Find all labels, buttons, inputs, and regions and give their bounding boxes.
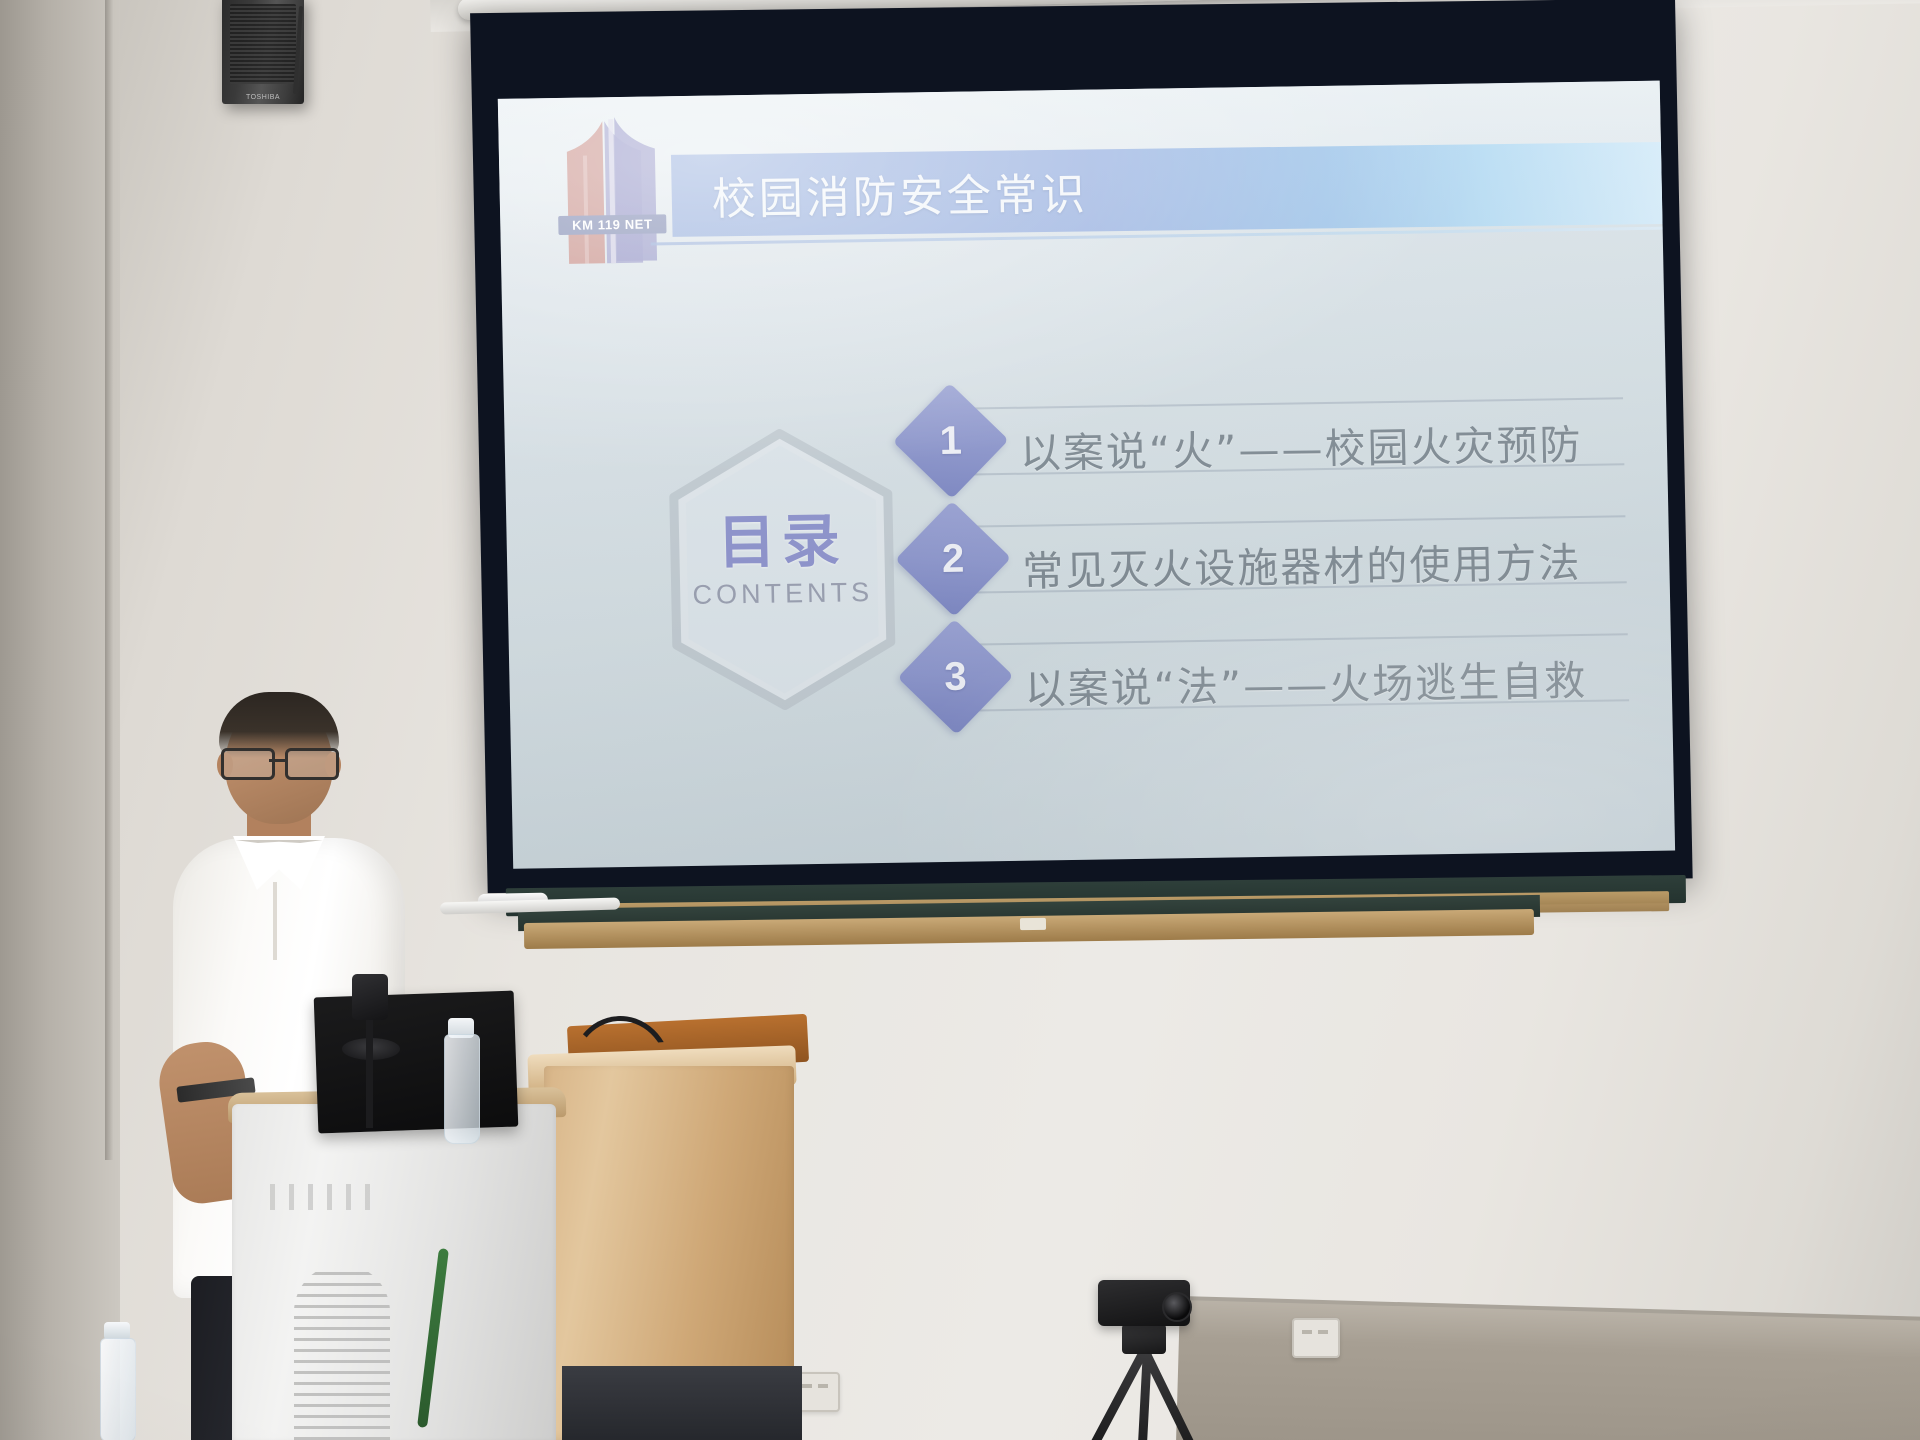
podium-front-slots — [256, 1184, 376, 1210]
projection-screen-icon: KM 119 NET 校园消防安全常识 目录 CONTENTS — [470, 0, 1738, 930]
presenter-shirt-placket — [273, 882, 277, 960]
chalk-tray-item — [1020, 918, 1046, 930]
toc-item: 2 常见灭火设施器材的使用方法 — [911, 499, 1633, 628]
tripod-camera-icon — [1062, 1280, 1252, 1440]
km119-shield-icon: KM 119 NET — [558, 114, 665, 268]
toc-label: 以案说“法”——火场逃生自救 — [1024, 647, 1588, 716]
power-socket-icon — [1292, 1318, 1340, 1358]
toc-rule-top — [968, 633, 1628, 645]
camera-lens-icon — [1162, 1292, 1192, 1322]
contents-cn-label: 目录 — [656, 510, 907, 575]
toc-item: 3 以案说“法”——火场逃生自救 — [914, 617, 1636, 746]
podium-base — [562, 1366, 802, 1440]
monitor-icon — [314, 991, 519, 1134]
screenshot-scene: TOSHIBA KM 119 NET — [0, 0, 1920, 1440]
slide-title: 校园消防安全常识 — [711, 158, 1088, 227]
wall-left-shadow — [0, 0, 120, 1440]
contents-badge-text: 目录 CONTENTS — [656, 510, 908, 612]
contents-en-label: CONTENTS — [657, 576, 908, 611]
presentation-slide: KM 119 NET 校园消防安全常识 目录 CONTENTS — [498, 81, 1675, 869]
tripod-head — [1122, 1324, 1166, 1354]
wall-skirting — [1176, 1300, 1920, 1440]
toc-item: 1 以案说“火”——校园火灾预防 — [909, 381, 1631, 510]
slide-surface: KM 119 NET 校园消防安全常识 目录 CONTENTS — [498, 81, 1675, 869]
toc-number-badge: 3 — [898, 619, 1014, 735]
podium-cabinet — [232, 1104, 556, 1440]
speaker-grille — [230, 4, 296, 84]
toc-label: 以案说“火”——校园火灾预防 — [1019, 411, 1583, 480]
toc-label: 常见灭火设施器材的使用方法 — [1022, 529, 1582, 598]
podium-vent-grille — [294, 1264, 390, 1440]
toc-rule-top — [965, 515, 1625, 527]
toc-number: 2 — [911, 517, 995, 600]
camera-body — [1098, 1280, 1190, 1326]
km119-logo-label: KM 119 NET — [558, 214, 666, 235]
toc-number: 3 — [914, 635, 998, 718]
slide-title-band: 校园消防安全常识 — [671, 142, 1663, 237]
microphone-stem — [366, 1018, 373, 1128]
water-bottle-icon — [444, 1034, 480, 1144]
toc-number-badge: 2 — [895, 501, 1011, 617]
speaker-brand-label: TOSHIBA — [222, 94, 304, 101]
lectern-icon — [232, 1042, 792, 1440]
contents-hexagon-badge: 目录 CONTENTS — [654, 418, 910, 722]
toc-number-badge: 1 — [893, 383, 1009, 499]
toc-number: 1 — [909, 399, 993, 482]
toc-rule-top — [963, 397, 1623, 409]
microphone-icon — [352, 974, 388, 1020]
slide-toc-list: 1 以案说“火”——校园火灾预防 2 常见灭火设施器材的使用方法 — [909, 381, 1636, 746]
water-bottle-icon — [100, 1338, 136, 1440]
wall-corner-seam — [105, 0, 113, 1160]
wall-speaker-icon: TOSHIBA — [222, 0, 304, 104]
eyeglasses-icon — [217, 748, 343, 774]
